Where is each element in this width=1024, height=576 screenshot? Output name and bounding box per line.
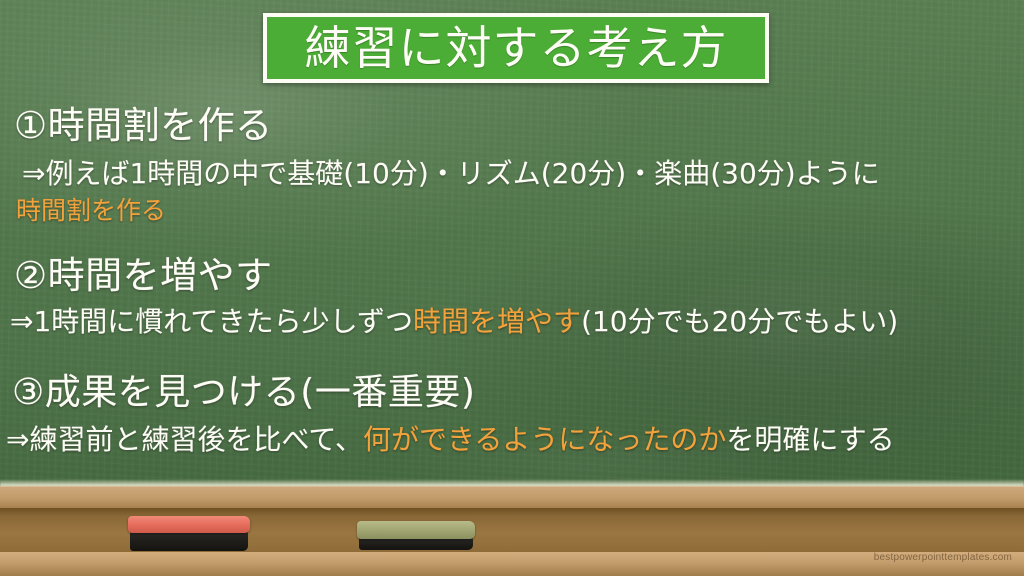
section-2-text-before: ⇒1時間に慣れてきたら少しずつ: [10, 305, 413, 338]
section-2-detail-line: ⇒1時間に慣れてきたら少しずつ時間を増やす(10分でも20分でもよい): [10, 300, 898, 340]
chalkboard-slide: 練習に対する考え方 ①時間割を作る ⇒例えば1時間の中で基礎(10分)・リズム(…: [0, 0, 1024, 576]
eraser-felt: [357, 521, 475, 539]
section-3-text-before: ⇒練習前と練習後を比べて、: [6, 423, 363, 456]
section-3-text-accent: 何ができるようになったのか: [363, 423, 726, 456]
watermark: bestpowerpointtemplates.com: [874, 552, 1012, 563]
section-1-detail-line-1: ⇒例えば1時間の中で基礎(10分)・リズム(20分)・楽曲(30分)ように: [22, 152, 880, 192]
section-3-heading: ③成果を見つける(一番重要): [12, 363, 475, 415]
section-2-heading: ②時間を増やす: [14, 245, 273, 299]
ledge-bottom-rail: [0, 552, 1024, 576]
ledge-top-rail: [0, 486, 1024, 508]
section-2-text-accent: 時間を増やす: [413, 305, 581, 338]
eraser-felt: [128, 516, 250, 533]
page-title: 練習に対する考え方: [305, 25, 728, 71]
eraser-body: [130, 530, 248, 551]
section-3-detail-line: ⇒練習前と練習後を比べて、何ができるようになったのかを明確にする: [6, 418, 895, 458]
slide-title-box: 練習に対する考え方: [263, 13, 769, 83]
section-1-heading: ①時間割を作る: [14, 95, 273, 149]
section-3-text-after: を明確にする: [726, 423, 894, 456]
section-1-detail-line-2-accent: 時間割を作る: [16, 191, 166, 227]
section-2-text-after: (10分でも20分でもよい): [581, 305, 898, 338]
